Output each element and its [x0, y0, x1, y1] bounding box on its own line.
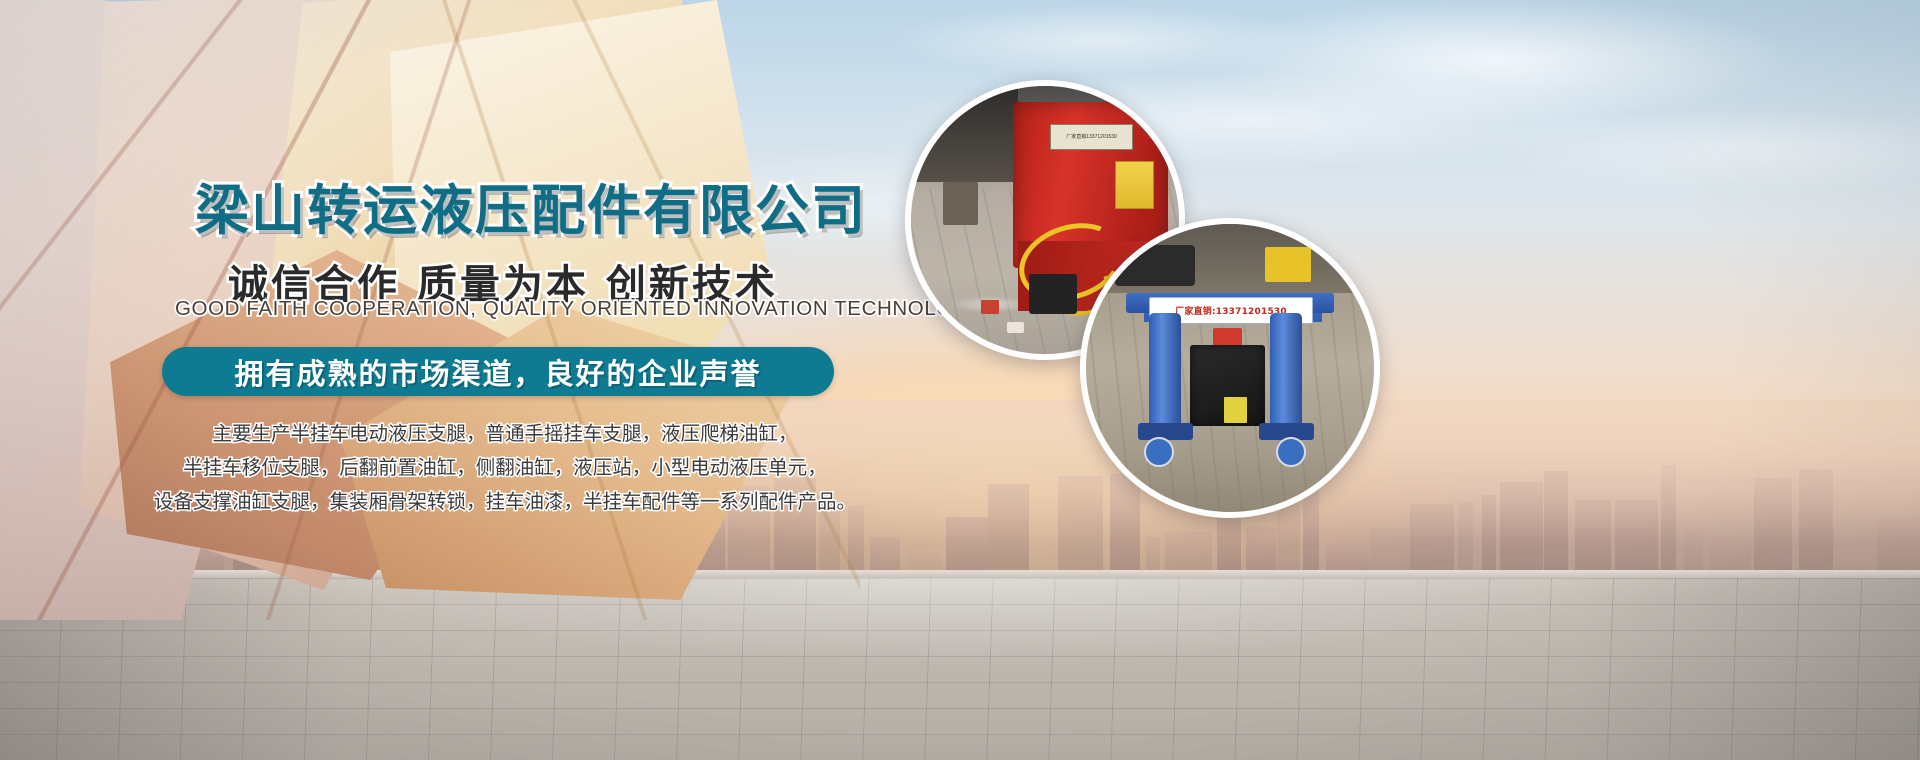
product-description: 主要生产半挂车电动液压支腿，普通手摇挂车支腿，液压爬梯油缸， 半挂车移位支腿，后…	[140, 420, 870, 522]
photo-b-yellow-part	[1265, 247, 1311, 282]
photo-b-wheel-left	[1144, 437, 1174, 467]
photo-b-leg-left	[1149, 313, 1181, 428]
description-line-3: 设备支撑油缸支腿，集装厢骨架转锁，挂车油漆，半挂车配件等一系列配件产品。	[140, 488, 870, 516]
slogan-english: GOOD FAITH COOPERATION, QUALITY ORIENTED…	[175, 297, 984, 321]
photo-a-drum	[943, 182, 978, 225]
photo-a-machine-label: 厂家直销13371201530	[1050, 124, 1132, 150]
photo-b-leg-right	[1270, 313, 1302, 428]
photo-b-wheel-right	[1276, 437, 1306, 467]
photo-b-background-equipment	[1086, 224, 1374, 293]
photo-a-motor	[1029, 274, 1077, 314]
description-line-2: 半挂车移位支腿，后翻前置油缸，侧翻油缸，液压站，小型电动液压单元，	[140, 454, 870, 482]
photo-a-warning-tag	[1115, 161, 1155, 209]
photo-b-inner: 厂家直销:13371201530	[1086, 224, 1374, 512]
company-title: 梁山转运液压配件有限公司	[195, 166, 867, 245]
photo-a-debris-2	[1007, 322, 1023, 333]
photo-a-wall	[911, 86, 1018, 182]
description-line-1: 主要生产半挂车电动液压支腿，普通手摇挂车支腿，液压爬梯油缸，	[140, 420, 870, 448]
photo-a-debris-1	[981, 300, 1000, 313]
highlight-pill: 拥有成熟的市场渠道，良好的企业声誉	[162, 347, 834, 396]
photo-b-tag	[1224, 397, 1247, 423]
highlight-pill-text: 拥有成熟的市场渠道，良好的企业声誉	[162, 347, 834, 396]
product-photo-blue-unit: 厂家直销:13371201530	[1080, 218, 1380, 518]
text-block: 梁山转运液压配件有限公司 诚信合作 质量为本 创新技术 GOOD FAITH C…	[0, 0, 1000, 620]
hero-banner: 梁山转运液压配件有限公司 诚信合作 质量为本 创新技术 GOOD FAITH C…	[0, 0, 1920, 760]
